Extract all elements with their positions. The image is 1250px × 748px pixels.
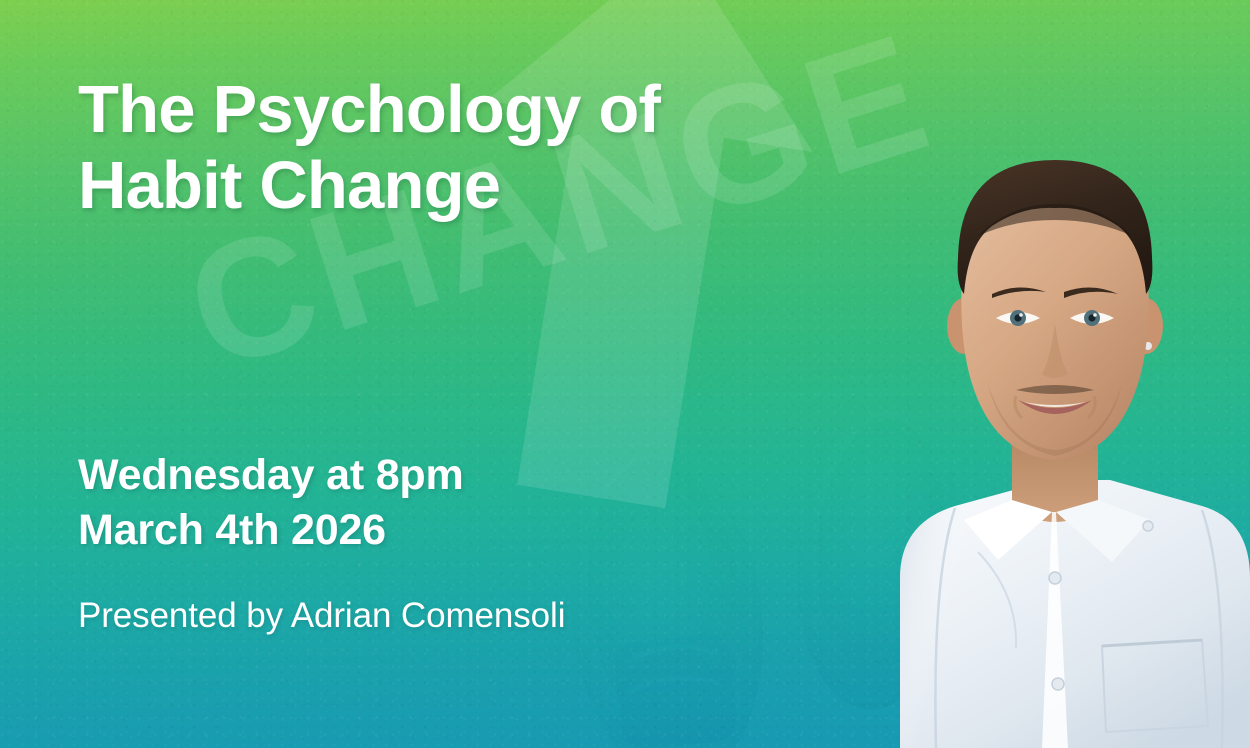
poster-copy: The Psychology of Habit Change Wednesday… (78, 0, 798, 748)
title-line-2: Habit Change (78, 148, 660, 224)
speaker-portrait (750, 108, 1250, 748)
collar-button (1143, 521, 1153, 531)
event-promo-poster: CHANGE (0, 0, 1250, 748)
shirt-button-1 (1049, 572, 1061, 584)
page-title: The Psychology of Habit Change (78, 72, 660, 223)
event-date: March 4th 2026 (78, 503, 464, 558)
title-line-1: The Psychology of (78, 72, 660, 148)
presenter-credit: Presented by Adrian Comensoli (78, 596, 565, 636)
speaker-portrait-svg (750, 108, 1250, 748)
shirt-button-2 (1052, 678, 1064, 690)
event-day-time: Wednesday at 8pm (78, 448, 464, 503)
event-datetime: Wednesday at 8pm March 4th 2026 (78, 448, 464, 558)
